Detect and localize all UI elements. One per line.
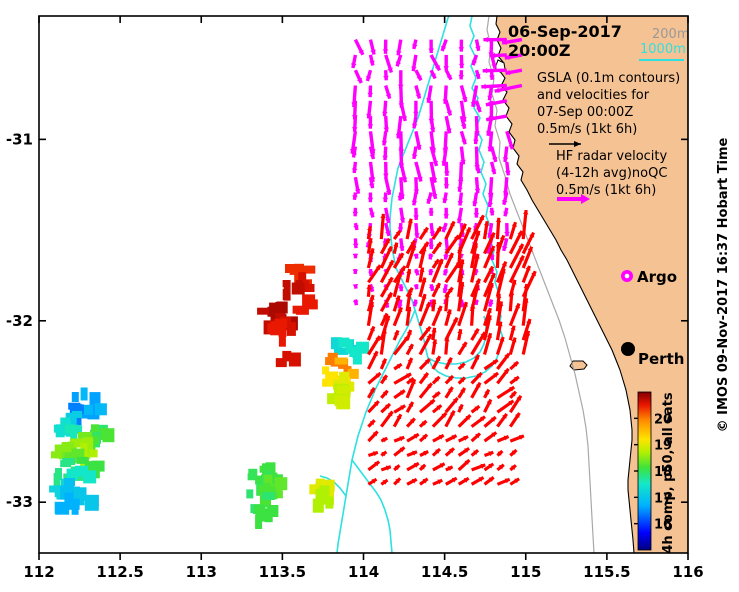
legend-gsla-line2: and velocities for — [537, 88, 650, 103]
sst-patch — [257, 308, 269, 315]
legend-gsla-line1: GSLA (0.1m contours) — [537, 71, 680, 86]
colorbar-gradient — [638, 392, 651, 550]
x-tick-label: 116 — [672, 563, 703, 581]
sst-patch — [90, 392, 101, 405]
sst-patch — [60, 460, 71, 467]
sst-patch — [313, 499, 324, 513]
place-label-argo: Argo — [637, 268, 677, 286]
sst-patch — [279, 330, 287, 337]
sst-patch — [275, 319, 287, 328]
sst-patch — [72, 392, 79, 402]
y-tick-label: -32 — [6, 312, 33, 330]
x-tick-label: 114 — [348, 563, 379, 581]
sst-patch — [255, 512, 267, 522]
sst-patch — [289, 353, 301, 367]
map-title-time: 20:00Z — [508, 41, 571, 60]
colorbar: 2019181716 4h comp, p50, all sats — [634, 392, 676, 554]
x-tick-label: 113 — [186, 563, 217, 581]
colorbar-label: 4h comp, p50, all sats — [661, 392, 676, 554]
sst-patch — [337, 386, 351, 394]
x-tick-label: 112.5 — [96, 563, 143, 581]
sst-patch — [336, 395, 350, 409]
sst-patch — [49, 486, 61, 493]
sst-patch — [294, 264, 304, 273]
sst-patch — [55, 445, 62, 459]
sst-patch — [262, 492, 275, 500]
sst-patch — [90, 449, 98, 457]
sst-patch — [81, 388, 88, 401]
sst-patch — [91, 424, 99, 432]
x-tick-label: 115 — [510, 563, 541, 581]
sst-patch — [335, 358, 348, 365]
sst-patch — [64, 478, 75, 486]
sst-patch — [71, 469, 78, 477]
sst-patch — [283, 280, 291, 287]
bathy-legend-200m-label: 200m — [652, 27, 689, 42]
sst-patch — [85, 495, 99, 507]
legend-gsla-line3: 07-Sep 00:00Z — [537, 105, 633, 120]
y-tick-label: -31 — [6, 130, 33, 148]
sst-patch — [72, 411, 82, 418]
sst-patch — [56, 424, 65, 437]
sst-patch — [302, 294, 315, 306]
bathy-legend-1000m-label: 1000m — [640, 42, 686, 57]
legend-hf-line3: 0.5m/s (1kt 6h) — [556, 183, 656, 198]
sst-patch — [320, 486, 330, 496]
sst-patch — [101, 430, 113, 437]
x-tick-label: 113.5 — [259, 563, 306, 581]
sst-patch — [298, 272, 306, 280]
sst-patch — [54, 473, 61, 487]
sst-patch — [339, 372, 349, 385]
legend-hf-line2: (4-12h avg)noQC — [556, 166, 667, 181]
map-title-date: 06-Sep-2017 — [508, 22, 622, 41]
sst-patch — [346, 340, 353, 353]
x-tick-label: 114.5 — [421, 563, 468, 581]
place-marker-perth — [621, 342, 635, 356]
imos-ocean-current-map: Argo Perth 06-Sep-2017 20:00Z 200m 1000m… — [0, 0, 739, 592]
place-marker-argo — [621, 270, 633, 282]
x-tick-label: 115.5 — [583, 563, 630, 581]
map-plot-area: Argo Perth 06-Sep-2017 20:00Z 200m 1000m… — [6, 16, 704, 581]
sst-patch — [59, 502, 66, 509]
sst-patch — [246, 489, 253, 498]
sst-patch — [72, 506, 79, 515]
y-tick-label: -33 — [6, 493, 33, 511]
place-label-perth: Perth — [638, 350, 684, 368]
sst-patch — [284, 287, 291, 301]
x-tick-label: 112 — [23, 563, 54, 581]
legend-hf-line1: HF radar velocity — [556, 149, 668, 164]
sst-patch — [95, 403, 107, 415]
copyright-notice: © IMOS 09-Nov-2017 16:37 Hobart Time — [716, 137, 731, 432]
legend-gsla-line4: 0.5m/s (1kt 6h) — [537, 122, 637, 137]
sst-patch — [296, 280, 303, 294]
sst-patch — [280, 305, 288, 313]
sst-patch — [296, 307, 309, 315]
sst-patch — [248, 473, 256, 480]
